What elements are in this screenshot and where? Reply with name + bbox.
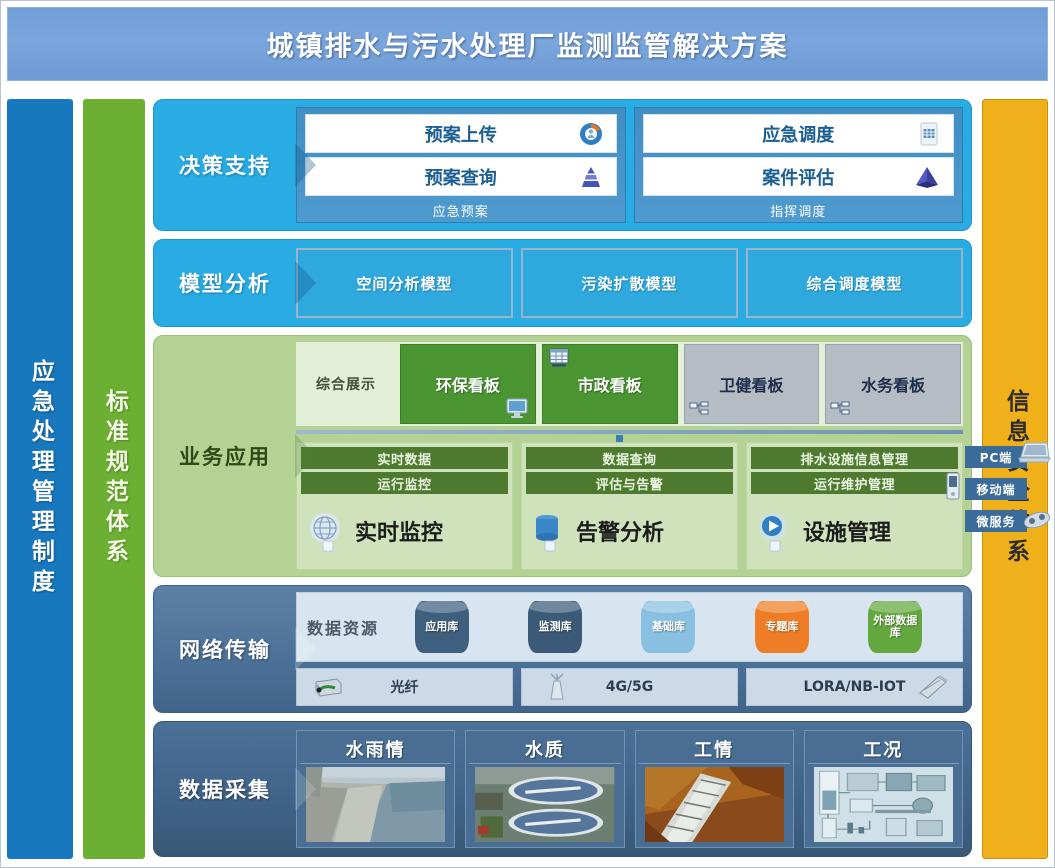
decision-item-emergency-dispatch[interactable]: 应急调度 bbox=[643, 114, 955, 153]
database-label: 外部数据库 bbox=[868, 615, 922, 639]
client-chip-pc[interactable]: PC端 bbox=[965, 446, 1027, 468]
data-card-title: 工情 bbox=[639, 734, 790, 764]
tab-environment-dashboard[interactable]: 环保看板 bbox=[400, 344, 536, 424]
database-monitoring[interactable]: 监测库 bbox=[528, 601, 582, 653]
database-external[interactable]: 外部数据库 bbox=[868, 601, 922, 653]
database-basic[interactable]: 基础库 bbox=[641, 601, 695, 653]
tab-health-dashboard[interactable]: 卫健看板 bbox=[684, 344, 820, 424]
link-fiber[interactable]: 光纤 bbox=[296, 668, 513, 706]
database-label: 应用库 bbox=[425, 621, 458, 633]
pillar-emergency-management: 应急处理管理制度 bbox=[7, 99, 73, 859]
database-icon bbox=[530, 509, 570, 553]
pillar-standard-system: 标准规范体系 bbox=[83, 99, 145, 859]
window-icon bbox=[547, 347, 571, 369]
database-label: 监测库 bbox=[539, 621, 572, 633]
pipe-trench-photo bbox=[645, 767, 784, 842]
business-feature-label: 设施管理 bbox=[803, 515, 891, 547]
database-thematic[interactable]: 专题库 bbox=[755, 601, 809, 653]
decision-group-emergency-plan: 预案上传 预案查询 bbox=[296, 107, 626, 223]
database-application[interactable]: 应用库 bbox=[415, 601, 469, 653]
plan-upload-icon bbox=[578, 121, 604, 147]
decision-groups: 预案上传 预案查询 bbox=[296, 107, 963, 223]
tab-label: 环保看板 bbox=[436, 372, 500, 396]
data-card-water-quality[interactable]: 水质 bbox=[465, 730, 624, 848]
business-chip[interactable]: 评估与告警 bbox=[526, 472, 733, 494]
pyramid-chart-icon bbox=[578, 165, 604, 189]
globe-icon bbox=[305, 509, 349, 553]
link-label: LORA/NB-IOT bbox=[804, 679, 906, 695]
data-resources-title: 数据资源 bbox=[307, 615, 379, 639]
decision-item-label: 预案上传 bbox=[425, 121, 497, 147]
band-decision-label: 决策支持 bbox=[154, 100, 296, 230]
model-item-spatial[interactable]: 空间分析模型 bbox=[296, 248, 513, 318]
decision-group-caption: 应急预案 bbox=[305, 200, 617, 220]
business-feature-label: 告警分析 bbox=[576, 515, 664, 547]
business-column-facility: 排水设施信息管理 运行维护管理 设施管理 bbox=[746, 442, 963, 570]
business-columns: 实时数据 运行监控 bbox=[296, 442, 963, 570]
band-data-label: 数据采集 bbox=[154, 722, 296, 856]
decision-item-plan-upload[interactable]: 预案上传 bbox=[305, 114, 617, 153]
data-collection-cards: 水雨情 bbox=[296, 730, 963, 848]
business-feature-alarm-analysis[interactable]: 告警分析 bbox=[526, 497, 733, 565]
link-lora-nbiot[interactable]: LORA/NB-IOT bbox=[746, 668, 963, 706]
tab-label: 卫健看板 bbox=[719, 372, 783, 396]
dashboard-tabs: 综合展示 环保看板 市政看板 bbox=[296, 342, 963, 426]
decision-item-plan-query[interactable]: 预案查询 bbox=[305, 157, 617, 196]
title-banner: 城镇排水与污水处理厂监测监管解决方案 bbox=[7, 7, 1048, 81]
model-item-dispatch[interactable]: 综合调度模型 bbox=[746, 248, 963, 318]
decision-item-label: 案件评估 bbox=[762, 164, 834, 190]
business-chip[interactable]: 排水设施信息管理 bbox=[751, 447, 958, 469]
business-chip[interactable]: 数据查询 bbox=[526, 447, 733, 469]
business-column-realtime: 实时数据 运行监控 bbox=[296, 442, 513, 570]
laptop-icon bbox=[1017, 440, 1051, 466]
decision-item-label: 预案查询 bbox=[425, 164, 497, 190]
data-card-title: 水质 bbox=[469, 734, 620, 764]
client-chip-microservice[interactable]: 微服务 bbox=[965, 510, 1027, 532]
pyramid-3d-icon bbox=[913, 165, 941, 189]
pillar-emergency-label: 应急处理管理制度 bbox=[26, 359, 55, 599]
data-card-title: 水雨情 bbox=[300, 734, 451, 764]
tab-label: 市政看板 bbox=[578, 372, 642, 396]
band-business-label: 业务应用 bbox=[154, 336, 296, 576]
sedimentation-tanks-photo bbox=[475, 767, 614, 842]
band-network-label: 网络传输 bbox=[154, 586, 296, 712]
business-chip[interactable]: 运行维护管理 bbox=[751, 472, 958, 494]
business-feature-facility-management[interactable]: 设施管理 bbox=[751, 497, 958, 565]
scada-diagram-photo bbox=[814, 767, 953, 842]
mobile-phone-icon bbox=[943, 472, 963, 502]
data-card-title: 工况 bbox=[808, 734, 959, 764]
decision-item-case-assessment[interactable]: 案件评估 bbox=[643, 157, 955, 196]
client-chip-label: 移动端 bbox=[976, 481, 1015, 498]
business-chip[interactable]: 实时数据 bbox=[301, 447, 508, 469]
business-feature-label: 实时监控 bbox=[355, 515, 443, 547]
client-chip-label: PC端 bbox=[980, 449, 1013, 466]
band-model-label: 模型分析 bbox=[154, 240, 296, 326]
link-label: 光纤 bbox=[391, 677, 419, 697]
business-feature-realtime-monitor[interactable]: 实时监控 bbox=[301, 497, 508, 565]
database-label: 专题库 bbox=[765, 621, 798, 633]
data-card-engineering[interactable]: 工情 bbox=[635, 730, 794, 848]
business-chip[interactable]: 运行监控 bbox=[301, 472, 508, 494]
dashboard-tabs-title: 综合展示 bbox=[298, 344, 394, 424]
band-model-analysis: 模型分析 空间分析模型 污染扩散模型 综合调度模型 bbox=[153, 239, 972, 327]
client-chip-label: 微服务 bbox=[976, 513, 1015, 530]
band-decision-support: 决策支持 预案上传 bbox=[153, 99, 972, 231]
link-label: 4G/5G bbox=[606, 679, 654, 695]
tab-water-dashboard[interactable]: 水务看板 bbox=[825, 344, 961, 424]
pillar-standard-label: 标准规范体系 bbox=[100, 389, 129, 569]
decision-item-label: 应急调度 bbox=[762, 121, 834, 147]
database-label: 基础库 bbox=[652, 621, 685, 633]
decision-group-caption: 指挥调度 bbox=[643, 200, 955, 220]
river-embankment-photo bbox=[306, 767, 445, 842]
transmission-links: 光纤 4G/5G LORA/NB-IOT bbox=[296, 668, 963, 706]
chart-node-icon bbox=[830, 401, 850, 419]
business-column-alarm: 数据查询 评估与告警 告警分析 bbox=[521, 442, 738, 570]
data-card-hydrology[interactable]: 水雨情 bbox=[296, 730, 455, 848]
link-cellular[interactable]: 4G/5G bbox=[521, 668, 738, 706]
business-inner: 综合展示 环保看板 市政看板 bbox=[296, 342, 963, 570]
tab-municipal-dashboard[interactable]: 市政看板 bbox=[542, 344, 678, 424]
band-data-collection: 数据采集 水雨情 bbox=[153, 721, 972, 857]
data-resources-panel: 数据资源 应用库 监测库 基础库 专题库 外部数据库 bbox=[296, 592, 963, 662]
client-endpoints: PC端 移动端 bbox=[965, 446, 1035, 532]
model-items: 空间分析模型 污染扩散模型 综合调度模型 bbox=[296, 248, 963, 318]
grid-table-icon bbox=[917, 121, 941, 147]
antenna-icon bbox=[546, 672, 568, 702]
data-card-operating-condition[interactable]: 工况 bbox=[804, 730, 963, 848]
tab-label: 水务看板 bbox=[861, 372, 925, 396]
decision-group-command-dispatch: 应急调度 bbox=[634, 107, 964, 223]
sensor-icon bbox=[914, 674, 952, 700]
database-cylinders: 应用库 监测库 基础库 专题库 外部数据库 bbox=[385, 601, 952, 653]
play-circle-icon bbox=[755, 509, 797, 553]
band-business-application: 业务应用 综合展示 环保看板 bbox=[153, 335, 972, 577]
microservice-icon bbox=[1021, 506, 1053, 532]
model-item-diffusion[interactable]: 污染扩散模型 bbox=[521, 248, 738, 318]
chart-node-icon bbox=[689, 401, 709, 419]
band-network-transmission: 网络传输 数据资源 应用库 监测库 基础库 专题库 bbox=[153, 585, 972, 713]
center-stack: 决策支持 预案上传 bbox=[153, 99, 972, 859]
section-divider bbox=[296, 430, 963, 434]
fiber-optic-icon bbox=[311, 675, 345, 699]
client-chip-mobile[interactable]: 移动端 bbox=[965, 478, 1027, 500]
solution-architecture-diagram: 城镇排水与污水处理厂监测监管解决方案 应急处理管理制度 标准规范体系 信息安全体… bbox=[0, 0, 1055, 868]
page-title: 城镇排水与污水处理厂监测监管解决方案 bbox=[8, 25, 1047, 64]
monitor-icon bbox=[505, 397, 529, 419]
